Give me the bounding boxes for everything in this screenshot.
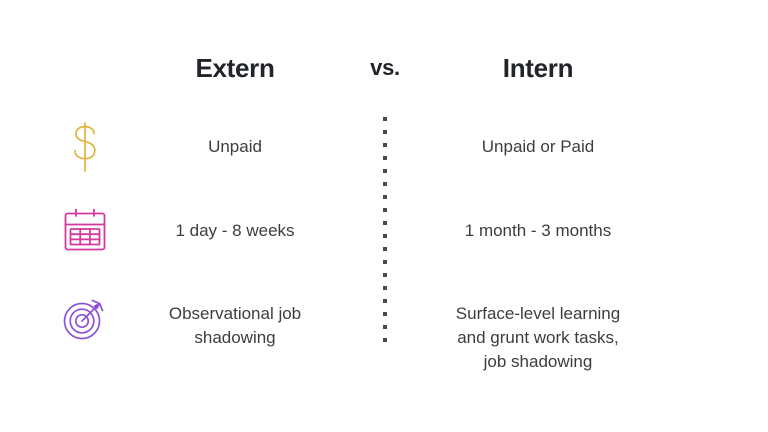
row-icon-target	[56, 289, 114, 347]
intern-value-pay: Unpaid or Paid	[428, 135, 648, 159]
row-icon-calendar	[56, 201, 114, 259]
extern-value-duration: 1 day - 8 weeks	[130, 219, 340, 243]
column-header-versus: vs.	[345, 52, 425, 84]
target-icon	[61, 294, 109, 342]
extern-value-experience: Observational job shadowing	[130, 302, 340, 350]
calendar-icon	[62, 207, 108, 253]
intern-value-duration: 1 month - 3 months	[428, 219, 648, 243]
dollar-sign-icon	[65, 120, 105, 174]
extern-value-pay: Unpaid	[130, 135, 340, 159]
column-header-intern: Intern	[440, 52, 636, 84]
row-icon-money	[56, 118, 114, 176]
intern-value-experience: Surface-level learning and grunt work ta…	[428, 302, 648, 374]
vertical-dotted-divider	[383, 117, 387, 347]
comparison-header-row: Extern vs. Intern	[0, 52, 768, 92]
column-header-extern: Extern	[140, 52, 330, 84]
comparison-infographic: Extern vs. Intern Unpaid Unpaid or Paid	[0, 0, 768, 432]
